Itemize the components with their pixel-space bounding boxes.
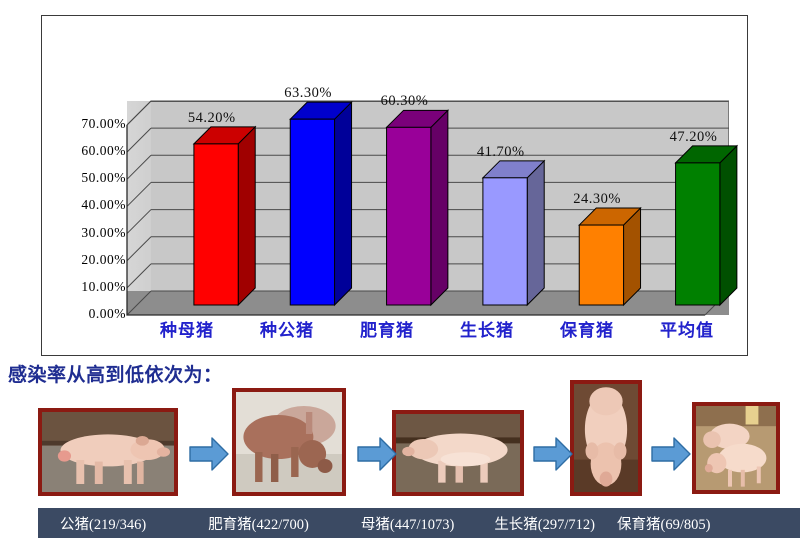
photo-gilt-side-view [392,410,524,496]
arrow-right-icon [532,436,574,472]
chart-x-category-5: 平均值 [637,316,737,344]
summary-bar-item-3: 生长猪(297/712) [494,513,595,534]
chart-y-tick-label: 50.00% [52,170,126,186]
chart-data-label: 54.20% [188,110,236,127]
chart-x-category-1: 种公猪 [237,316,337,344]
arrow-right-icon [650,436,692,472]
chart-bar [194,127,255,305]
chart-data-label: 60.30% [381,93,429,110]
chart-graphic [42,16,749,357]
summary-bar-item-4: 保育猪(69/805) [617,513,710,534]
chart-y-tick-label: 10.00% [52,279,126,295]
chart-plot-area: 70.00%60.00%50.00%40.00%30.00%20.00%10.0… [42,16,749,357]
chart-y-tick-label: 30.00% [52,225,126,241]
chart-bar [579,208,640,305]
summary-bar-item-0: 公猪(219/346) [60,513,146,534]
photo-nursery-piglets [692,402,780,494]
summary-bar-item-1: 肥育猪(422/700) [208,513,309,534]
chart-y-tick-label: 70.00% [52,116,126,132]
chart-y-tick-label: 60.00% [52,143,126,159]
chart-x-category-0: 种母猪 [137,316,237,344]
chart-bar [387,110,448,305]
chart-x-category-3: 生长猪 [437,316,537,344]
chart-data-label: 47.20% [670,129,718,146]
chart-x-category-4: 保育猪 [537,316,637,344]
arrow-right-icon [188,436,230,472]
chart-y-axis: 70.00%60.00%50.00%40.00%30.00%20.00%10.0… [42,16,126,357]
summary-bar-item-2: 母猪(447/1073) [361,513,454,534]
pig-photo-image [236,392,342,492]
chart-data-label: 24.30% [573,191,621,208]
pig-photo-image [696,406,776,490]
summary-bar: 公猪(219/346)肥育猪(422/700)母猪(447/1073)生长猪(2… [38,508,800,538]
chart-y-tick-label: 40.00% [52,197,126,213]
chart-data-label: 41.70% [477,144,525,161]
photo-finisher-pigs [232,388,346,496]
chart-x-axis: 种母猪种公猪肥育猪生长猪保育猪平均值 [137,316,737,344]
pig-photo-image [396,414,520,492]
pig-photo-image [42,412,174,492]
pig-photo-image [574,384,638,492]
arrow-right-icon [356,436,398,472]
chart-bar [290,102,351,305]
chart-data-label: 63.30% [284,85,332,102]
photo-strip [0,380,800,505]
photo-grower-front-view [570,380,642,496]
chart-y-tick-label: 20.00% [52,252,126,268]
chart-y-tick-label: 0.00% [52,306,126,322]
chart-bar [676,146,737,305]
chart-container: 70.00%60.00%50.00%40.00%30.00%20.00%10.0… [41,15,748,356]
photo-sow-side-view [38,408,178,496]
chart-x-category-2: 肥育猪 [337,316,437,344]
chart-bar [483,161,544,305]
